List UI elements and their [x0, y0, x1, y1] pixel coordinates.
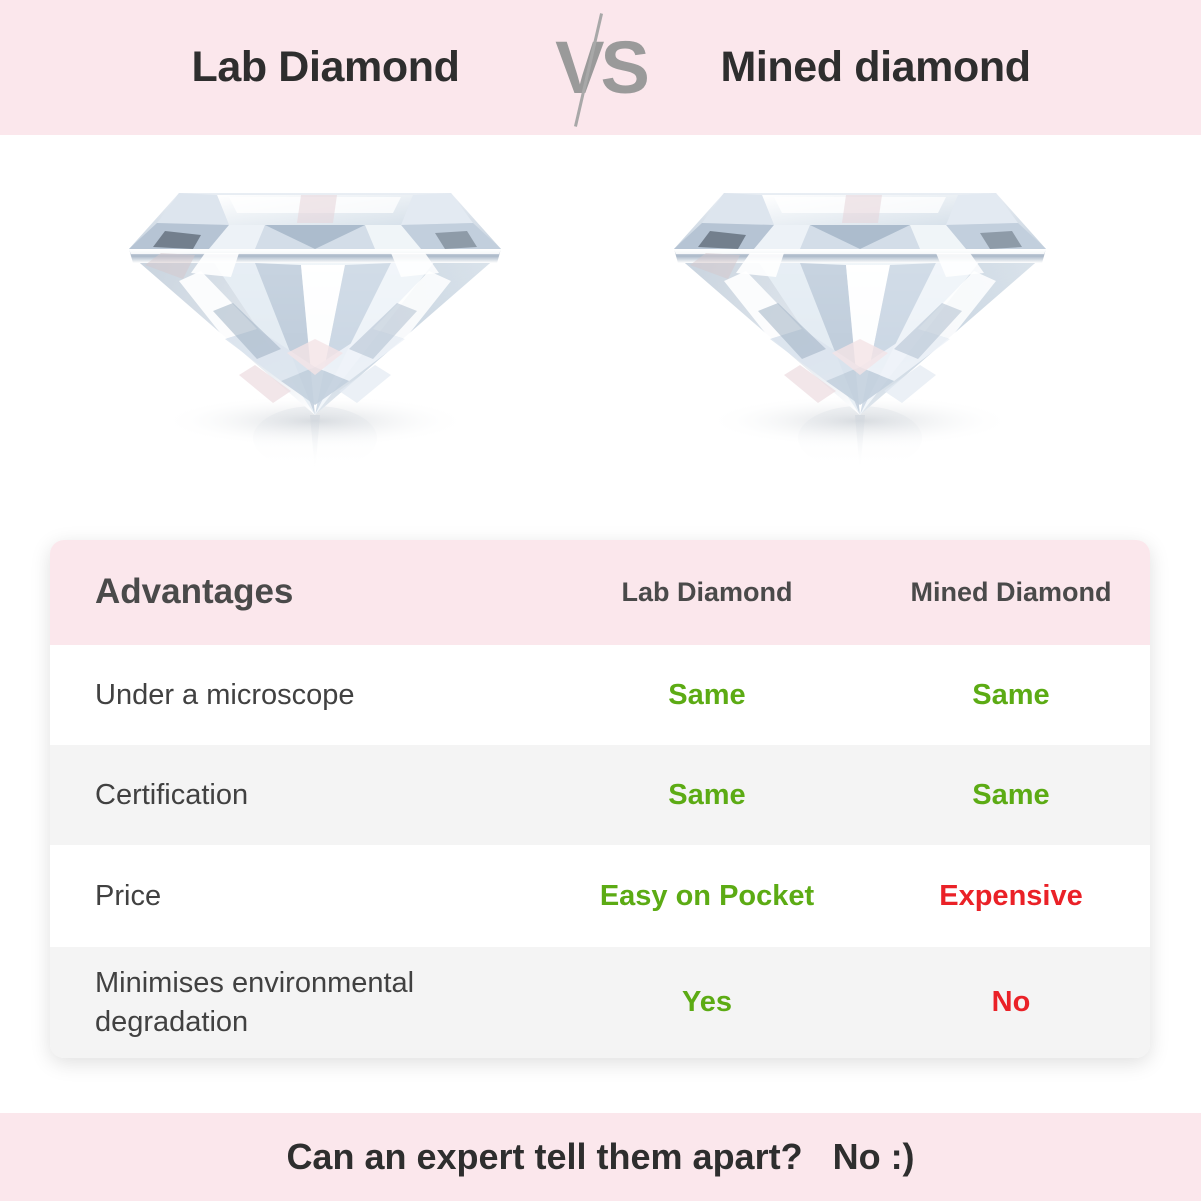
row-value-lab: Easy on Pocket: [542, 880, 872, 913]
row-value-mined: No: [872, 986, 1150, 1019]
row-label: Minimises environmental degradation: [50, 964, 542, 1041]
diamond-illustration-icon: [105, 153, 525, 483]
bottom-banner: Can an expert tell them apart? No :): [0, 1113, 1201, 1201]
row-value-lab: Yes: [542, 986, 872, 1019]
diamond-image-area: [0, 135, 1201, 535]
footer-question: Can an expert tell them apart? No :): [286, 1136, 914, 1178]
row-value-mined: Same: [872, 679, 1150, 712]
diamond-illustration-icon: [650, 153, 1070, 483]
column-header-lab-diamond: Lab Diamond: [542, 577, 872, 608]
lab-diamond-image: [105, 153, 525, 483]
comparison-card: Advantages Lab Diamond Mined Diamond Und…: [50, 540, 1150, 1058]
comparison-table: Advantages Lab Diamond Mined Diamond Und…: [50, 540, 1150, 1058]
column-header-mined-diamond: Mined Diamond: [872, 577, 1150, 608]
lab-diamond-title: Lab Diamond: [192, 43, 460, 91]
vs-label: VS: [555, 31, 646, 105]
row-label: Certification: [50, 776, 542, 814]
mined-diamond-image: [650, 153, 1070, 483]
top-banner-inner: Lab Diamond VS Mined diamond: [0, 8, 1201, 128]
row-value-lab: Same: [542, 679, 872, 712]
row-label: Price: [50, 877, 542, 915]
table-row: Minimises environmental degradation Yes …: [50, 947, 1150, 1058]
left-title-wrap: Lab Diamond: [111, 46, 541, 89]
table-row: Price Easy on Pocket Expensive: [50, 845, 1150, 947]
column-header-advantages: Advantages: [50, 569, 542, 615]
row-value-mined: Expensive: [872, 880, 1150, 913]
mined-diamond-title: Mined diamond: [720, 43, 1030, 91]
table-row: Under a microscope Same Same: [50, 645, 1150, 745]
row-value-lab: Same: [542, 779, 872, 812]
table-row: Certification Same Same: [50, 745, 1150, 845]
top-banner: Lab Diamond VS Mined diamond: [0, 0, 1201, 135]
row-label: Under a microscope: [50, 676, 542, 714]
row-value-mined: Same: [872, 779, 1150, 812]
right-title-wrap: Mined diamond: [661, 46, 1091, 89]
table-header-row: Advantages Lab Diamond Mined Diamond: [50, 540, 1150, 645]
vs-badge: VS: [541, 8, 661, 128]
